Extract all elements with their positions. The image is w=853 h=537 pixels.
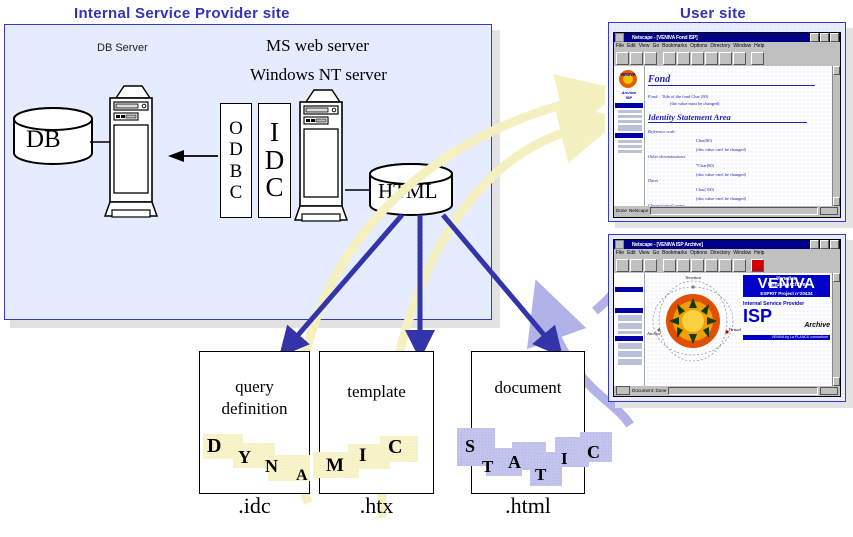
browser-1-toolbar[interactable] (614, 51, 840, 66)
menu-help[interactable]: Help (754, 43, 764, 51)
browser-2-titlebar[interactable]: Netscape - [VENIVA ISP Archive] (614, 240, 840, 249)
back-icon[interactable] (616, 52, 629, 65)
reload-icon[interactable] (677, 52, 690, 65)
browser-2-statusbar: Document: Done (614, 386, 840, 395)
status-lock-icon (820, 207, 838, 215)
forward-icon[interactable] (630, 259, 643, 272)
browser-1-app-icon (615, 33, 624, 42)
images-icon[interactable] (691, 259, 704, 272)
table-row: Chronological series Char(80) (this valu… (648, 203, 829, 206)
row-value: Char(100) (696, 187, 714, 192)
nav-item-bodies[interactable] (618, 120, 642, 123)
find-icon[interactable] (733, 52, 746, 65)
status-field-2 (668, 387, 818, 395)
veniva-footer-bar: VENIVA by La PLANCK consortium (743, 335, 830, 340)
static-letter-A: A (508, 453, 521, 471)
odbc-letter-0: O (229, 118, 243, 139)
static-letter-T: T (482, 458, 493, 475)
fond-field-label: Fond: (648, 94, 659, 101)
odbc-box: O D B C (220, 103, 252, 218)
menu-file[interactable]: File (616, 43, 624, 51)
dynamic-letter-C: C (388, 437, 402, 457)
print-icon[interactable] (719, 259, 732, 272)
file-idc-extension: .idc (199, 493, 310, 519)
nav-item-browse[interactable] (618, 145, 642, 148)
odbc-letter-2: B (230, 161, 243, 182)
odbc-to-db-server-arrow (150, 148, 220, 164)
identity-rows: Reference code Char(80) (this value can'… (648, 129, 829, 206)
nav-item-general-information[interactable] (618, 323, 642, 329)
row-label: Reference code (648, 129, 696, 154)
svg-text:VENIVA: VENIVA (620, 72, 635, 77)
file-idc-title-line2: definition (199, 398, 310, 420)
veniva-logo-sub2: Virtual Archive (743, 282, 830, 288)
menu-options[interactable]: Options (690, 43, 707, 51)
menu-edit[interactable]: Edit (627, 43, 636, 51)
db-cylinder-label: DB (26, 126, 61, 154)
isp-logo-title: ISP (743, 307, 830, 325)
browser-2-toolbar[interactable] (614, 258, 840, 273)
veniva-sidebar-logo: VENIVA (615, 68, 643, 90)
row-note: (this value can't be changed) (696, 147, 746, 154)
static-letter-T2: T (535, 466, 546, 483)
browser-1-titlebar[interactable]: Netscape - [VENIVA Fond ISP] (614, 33, 840, 42)
browser-2-app-icon (615, 240, 624, 249)
page-heading-fond: Fond (648, 74, 815, 86)
veniva-orbital-diagram: Venetian Arc (647, 275, 739, 384)
status-left-2: Document: Done (632, 388, 666, 393)
idc-letter-2: C (265, 174, 283, 202)
row-value: *Char(80) (696, 163, 714, 168)
edit-icon[interactable] (663, 52, 676, 65)
scroll-down-arrow[interactable] (833, 197, 840, 206)
browser-2-sidebar[interactable] (614, 273, 645, 386)
browser-1-maximize-button[interactable] (820, 33, 829, 42)
windows-nt-server-label: Windows NT server (250, 65, 387, 85)
nav-item-places[interactable] (618, 110, 642, 113)
browser-1-minimize-button[interactable] (810, 33, 819, 42)
fond-field-note: (the value must be changed) (670, 101, 829, 108)
static-letter-S: S (465, 437, 475, 455)
row-note: (this value can't be changed) (696, 172, 746, 179)
menu-directory[interactable]: Directory (710, 43, 730, 51)
menu-window[interactable]: Window (733, 250, 751, 258)
db-server-label: DB Server (97, 42, 148, 54)
browser-2-vertical-scrollbar[interactable] (832, 273, 840, 386)
nav-group-header-selections[interactable] (615, 133, 643, 138)
row-label: Chronological series (648, 203, 696, 206)
diagram-label-archive: Archive (647, 331, 661, 336)
menu-file[interactable]: File (616, 250, 624, 258)
odbc-letter-1: D (229, 139, 243, 160)
dynamic-letter-D: D (207, 436, 221, 456)
idc-letter-1: D (265, 147, 285, 175)
browser-1-page: Fond Fond: Title of the fond Char (80) (… (645, 66, 832, 206)
status-field-1 (650, 207, 818, 215)
dynamic-letter-A: A (296, 468, 308, 484)
menu-window[interactable]: Window (733, 43, 751, 51)
veniva-logos: VENIVA Venetian Virtual Archive ESPRIT P… (739, 275, 830, 384)
menu-directory[interactable]: Directory (710, 250, 730, 258)
dynamic-letter-Y: Y (238, 448, 251, 466)
browser-window-fond[interactable]: Netscape - [VENIVA Fond ISP] File Edit V… (613, 32, 841, 218)
diagram-label-virtual: Virtual (728, 327, 741, 332)
menu-view[interactable]: View (639, 250, 650, 258)
file-idc-title-line1: query (199, 376, 310, 398)
idc-box: I D C (258, 103, 291, 218)
browser-1-statusbar: Done Netscape (614, 206, 840, 215)
browser-2-page: Venetian Arc (645, 273, 832, 386)
idc-letter-0: I (270, 119, 279, 147)
row-label: Other denominations (648, 154, 696, 179)
dynamic-letter-N: N (265, 457, 278, 475)
nav-item-administration-services[interactable] (618, 359, 642, 365)
nav-group-header-fond[interactable] (615, 103, 643, 108)
reload-icon[interactable] (677, 259, 690, 272)
open-icon[interactable] (705, 52, 718, 65)
nav-item-people[interactable] (618, 115, 642, 118)
row-label: Dates (648, 178, 696, 203)
browser-1-sidebar[interactable]: VENIVA Archive ISP (614, 66, 645, 206)
fond-field-value: Title of the fond Char (80) (662, 94, 709, 101)
scroll-up-arrow[interactable] (833, 273, 840, 282)
status-left-1: Done (616, 208, 627, 213)
nav-item-chronologies[interactable] (618, 125, 642, 131)
veniva-footer-note: VENIVA by La PLANCK consortium (772, 335, 828, 339)
file-htx-extension: .htx (319, 493, 434, 519)
file-html-extension: .html (471, 493, 585, 519)
static-letter-I: I (561, 450, 568, 467)
stop-icon[interactable] (751, 52, 764, 65)
nav-item-data-loading-search[interactable] (618, 351, 642, 357)
table-row: Other denominations *Char(80) (this valu… (648, 154, 829, 179)
menu-go[interactable]: Go (652, 43, 659, 51)
row-value: Char(80) (696, 138, 712, 143)
nav-item-searching[interactable] (618, 140, 642, 143)
browser-1-menubar[interactable]: File Edit View Go Bookmarks Options Dire… (614, 42, 840, 51)
menu-options[interactable]: Options (690, 250, 707, 258)
section-heading-identity: Identity Statement Area (648, 112, 807, 123)
table-row: Dates Char(100) (this value can't be cha… (648, 178, 829, 203)
browser-1-content: VENIVA Archive ISP Fond Fond: Title of t… (614, 66, 840, 206)
status-app-1: Netscape (629, 208, 648, 213)
browser-1-title: Netscape - [VENIVA Fond ISP] (624, 35, 809, 41)
back-icon[interactable] (616, 259, 629, 272)
file-htx-title-line1: template (319, 381, 434, 403)
browser-2-maximize-button[interactable] (820, 240, 829, 249)
edit-icon[interactable] (663, 259, 676, 272)
veniva-logo-block: VENIVA Venetian Virtual Archive ESPRIT P… (743, 275, 830, 297)
menu-help[interactable]: Help (754, 250, 764, 258)
sidebar-isp-label: ISP (615, 95, 643, 100)
menu-bookmarks[interactable]: Bookmarks (662, 43, 687, 51)
browser-2-menubar[interactable]: File Edit View Go Bookmarks Options Dire… (614, 249, 840, 258)
row-note: (this value can't be changed) (696, 196, 746, 203)
page-title-user-site: User site (680, 5, 746, 22)
home-icon[interactable] (644, 259, 657, 272)
web-server-tower-icon (294, 88, 348, 223)
menu-edit[interactable]: Edit (627, 250, 636, 258)
browser-2-minimize-button[interactable] (810, 240, 819, 249)
ms-web-server-label: MS web server (266, 36, 369, 56)
nav-group-header-archive[interactable] (615, 308, 643, 313)
nav-item-files[interactable] (618, 150, 642, 153)
scroll-down-arrow[interactable] (833, 377, 840, 386)
print-icon[interactable] (719, 52, 732, 65)
open-icon[interactable] (705, 259, 718, 272)
stop-icon[interactable] (751, 259, 764, 272)
images-icon[interactable] (691, 52, 704, 65)
dynamic-letter-M: M (326, 456, 344, 475)
static-letter-C: C (587, 443, 600, 461)
browser-1-vertical-scrollbar[interactable] (832, 66, 840, 206)
browser-2-title: Netscape - [VENIVA ISP Archive] (624, 242, 809, 248)
nav-item-security[interactable] (618, 331, 642, 334)
menu-go[interactable]: Go (652, 250, 659, 258)
nav-item-archive-links[interactable] (618, 315, 642, 321)
browser-2-close-button[interactable] (830, 240, 839, 249)
browser-window-isp-archive[interactable]: Netscape - [VENIVA ISP Archive] File Edi… (613, 239, 841, 397)
odbc-letter-3: C (230, 182, 243, 203)
html-cylinder-label: HTML (378, 179, 438, 204)
table-row: Reference code Char(80) (this value can'… (648, 129, 829, 154)
forward-icon[interactable] (630, 52, 643, 65)
menu-view[interactable]: View (639, 43, 650, 51)
nav-group-header-services[interactable] (615, 336, 643, 341)
browser-1-close-button[interactable] (830, 33, 839, 42)
find-icon[interactable] (733, 259, 746, 272)
dynamic-letter-I: I (359, 446, 366, 465)
nav-group-header-home[interactable] (615, 287, 643, 292)
home-icon[interactable] (644, 52, 657, 65)
nav-item-fond-description[interactable] (618, 343, 642, 349)
status-doc-icon (616, 386, 630, 395)
status-lock-icon-2 (820, 387, 838, 395)
file-html-title-line1: document (471, 377, 585, 399)
menu-bookmarks[interactable]: Bookmarks (662, 250, 687, 258)
page-title-internal-service-provider: Internal Service Provider site (74, 5, 290, 22)
scroll-up-arrow[interactable] (833, 66, 840, 75)
browser-2-content: Venetian Arc (614, 273, 840, 386)
